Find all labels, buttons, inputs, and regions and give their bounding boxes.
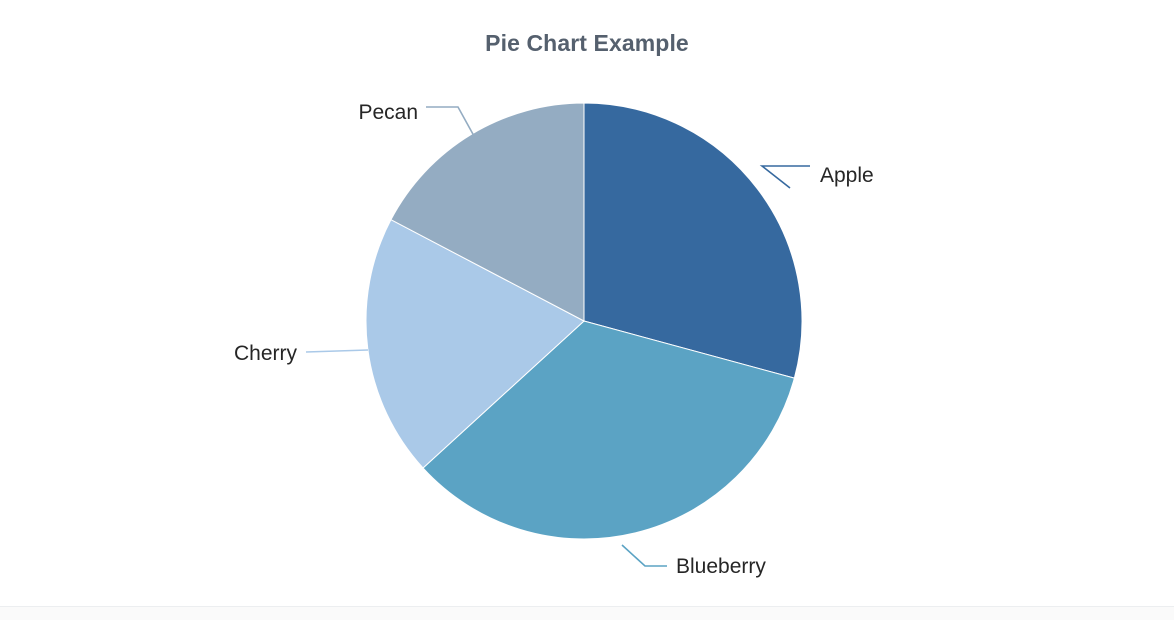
slice-label-pecan: Pecan [358, 101, 418, 124]
slice-label-cherry: Cherry [234, 342, 298, 365]
pie-chart-svg: AppleBlueberryCherryPecan [0, 0, 1174, 610]
footer-strip [0, 607, 1174, 620]
slice-label-apple: Apple [820, 164, 874, 187]
slice-label-blueberry: Blueberry [676, 555, 766, 578]
leader-line-apple [762, 166, 810, 188]
chart-canvas: AppleBlueberryCherryPecan [0, 0, 1174, 610]
leader-line-cherry [306, 350, 368, 352]
leader-line-pecan [426, 107, 474, 136]
pie-slice-group [366, 103, 802, 539]
leader-line-blueberry [622, 545, 667, 566]
pie-chart-page: Pie Chart Example AppleBlueberryCherryPe… [0, 0, 1174, 620]
